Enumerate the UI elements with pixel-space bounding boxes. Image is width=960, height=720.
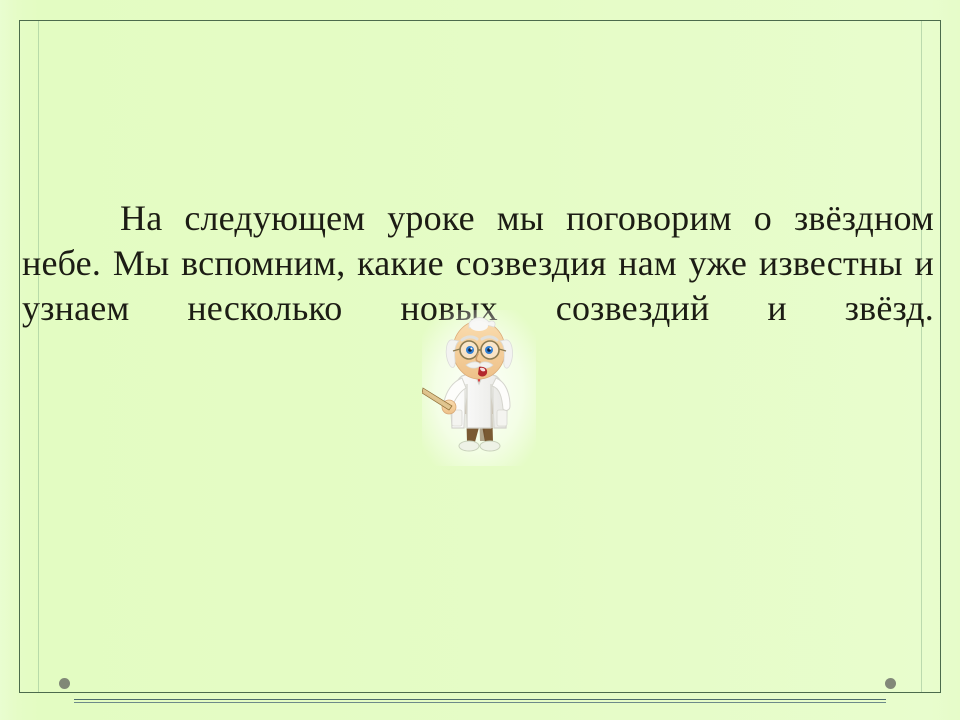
- bottom-rule-lower: [74, 702, 886, 703]
- decorative-dot-left: [59, 678, 70, 689]
- decorative-dot-right: [885, 678, 896, 689]
- bottom-rule-upper: [74, 699, 886, 700]
- professor-illustration: [422, 310, 536, 466]
- slide-canvas: На следующем уроке мы поговорим о звёздн…: [0, 0, 960, 720]
